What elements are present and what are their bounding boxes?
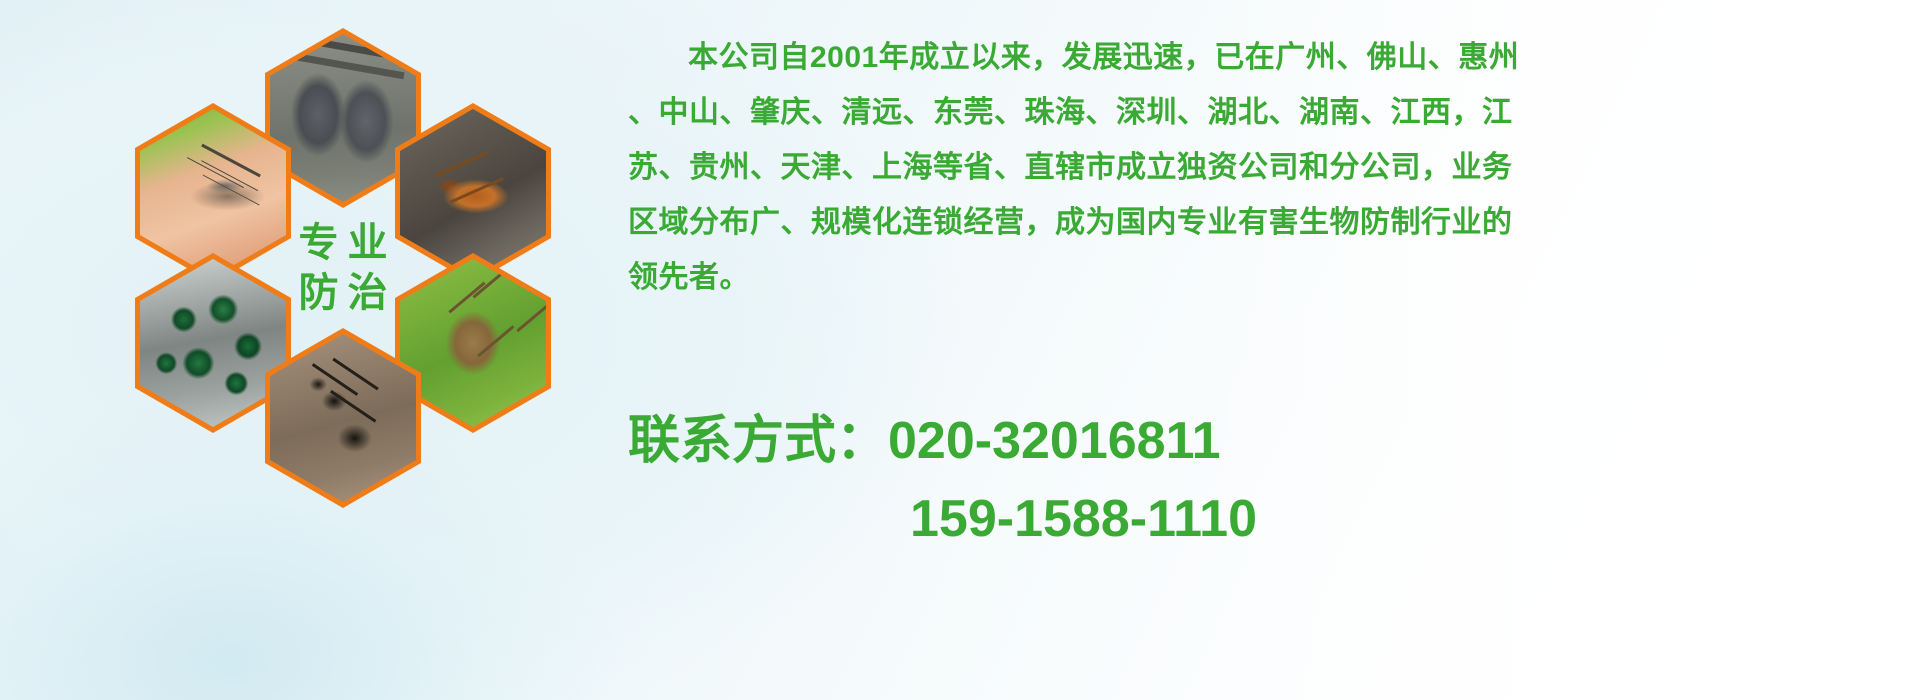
description-line-1: 本公司自2001年成立以来，发展迅速，已在广州、佛山、惠州 (628, 30, 1898, 85)
contact-phone-mobile[interactable]: 159-1588-1110 (628, 480, 1257, 558)
cockroach-photo (400, 109, 546, 277)
description-line-2: 、中山、肇庆、清远、东莞、珠海、深圳、湖北、湖南、江西，江 (628, 85, 1898, 140)
description-line-5: 领先者。 (628, 250, 1898, 305)
company-description: 本公司自2001年成立以来，发展迅速，已在广州、佛山、惠州 、中山、肇庆、清远、… (628, 30, 1898, 305)
description-line-3: 苏、贵州、天津、上海等省、直辖市成立独资公司和分公司，业务 (628, 140, 1898, 195)
ant-photo (270, 334, 416, 502)
badge-line-2: 防治 (290, 272, 397, 314)
contact-phone-landline[interactable]: 联系方式：020-32016811 (628, 402, 1257, 480)
stinkbug-photo (400, 259, 546, 427)
flies-photo (140, 259, 286, 427)
badge-line-1: 专业 (290, 222, 397, 264)
hex-inner-ant (270, 334, 416, 502)
rats-photo (270, 34, 416, 202)
hexagon-photo-cluster: 专业 防治 (95, 10, 595, 570)
hex-inner-cockroach (400, 109, 546, 277)
promo-banner: 专业 防治 本公司自2001年成立以来，发展迅速，已在广州、佛山、惠州 、中山、… (0, 0, 1920, 700)
hex-inner-flies (140, 259, 286, 427)
description-line-4: 区域分布广、规模化连锁经营，成为国内专业有害生物防制行业的 (628, 195, 1898, 250)
hex-inner-stinkbug (400, 259, 546, 427)
hex-inner-rats (270, 34, 416, 202)
hex-inner-mosquito (140, 109, 286, 277)
contact-block: 联系方式：020-32016811 159-1588-1110 (628, 402, 1257, 558)
mosquito-photo (140, 109, 286, 277)
